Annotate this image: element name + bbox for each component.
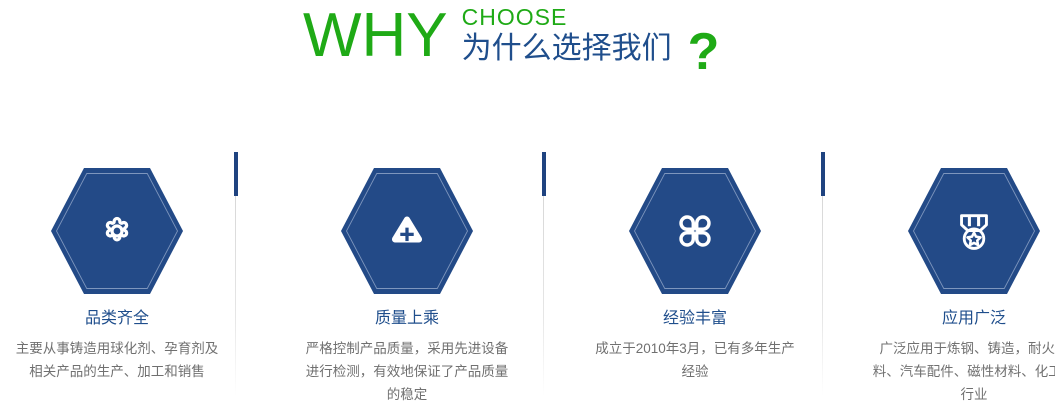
- feature-columns: 品类齐全 主要从事铸造用球化剂、孕育剂及相关产品的生产、加工和销售 质量上乘 严…: [0, 150, 1055, 416]
- feature-column-1: 品类齐全 主要从事铸造用球化剂、孕育剂及相关产品的生产、加工和销售: [0, 150, 234, 416]
- feature-title: 应用广泛: [857, 308, 1055, 330]
- hexagon-badge-1: [51, 168, 183, 294]
- divider-cap: [542, 152, 546, 196]
- heading-choose: CHOOSE: [462, 4, 672, 30]
- feature-description: 主要从事铸造用球化剂、孕育剂及相关产品的生产、加工和销售: [0, 337, 234, 383]
- heading-why: WHY: [303, 2, 448, 70]
- heading-text-stack: CHOOSE 为什么选择我们: [462, 4, 672, 67]
- clover-icon: [672, 208, 718, 254]
- heading-chinese-title: 为什么选择我们: [462, 31, 672, 67]
- feature-description: 广泛应用于炼钢、铸造，耐火材料、汽车配件、磁性材料、化工等行业: [857, 337, 1055, 406]
- heading-question-mark: ?: [688, 24, 720, 80]
- feature-title: 品类齐全: [0, 308, 234, 330]
- divider-cap: [821, 152, 825, 196]
- feature-description: 成立于2010年3月，已有多年生产经验: [578, 337, 812, 383]
- divider-tail: [822, 196, 823, 396]
- feature-column-3: 经验丰富 成立于2010年3月，已有多年生产经验: [578, 150, 812, 416]
- section-heading: WHY CHOOSE 为什么选择我们 ?: [0, 0, 1055, 96]
- feature-column-4: 应用广泛 广泛应用于炼钢、铸造，耐火材料、汽车配件、磁性材料、化工等行业: [857, 150, 1055, 416]
- feature-description: 严格控制产品质量，采用先进设备进行检测，有效地保证了产品质量的稳定: [290, 337, 524, 406]
- gear-icon: [94, 208, 140, 254]
- divider-tail: [235, 196, 236, 396]
- feature-text-4: 应用广泛 广泛应用于炼钢、铸造，耐火材料、汽车配件、磁性材料、化工等行业: [857, 308, 1055, 406]
- divider-tail: [543, 196, 544, 396]
- hexagon-badge-2: [341, 168, 473, 294]
- divider-cap: [234, 152, 238, 196]
- feature-title: 质量上乘: [290, 308, 524, 330]
- feature-text-2: 质量上乘 严格控制产品质量，采用先进设备进行检测，有效地保证了产品质量的稳定: [290, 308, 524, 406]
- hexagon-badge-3: [629, 168, 761, 294]
- medal-icon: [951, 208, 997, 254]
- column-divider-1: [234, 152, 238, 414]
- feature-column-2: 质量上乘 严格控制产品质量，采用先进设备进行检测，有效地保证了产品质量的稳定: [290, 150, 524, 416]
- heading-inner: WHY CHOOSE 为什么选择我们 ?: [303, 0, 719, 80]
- column-divider-3: [821, 152, 825, 414]
- triangle-plus-icon: [384, 208, 430, 254]
- hexagon-badge-4: [908, 168, 1040, 294]
- feature-text-1: 品类齐全 主要从事铸造用球化剂、孕育剂及相关产品的生产、加工和销售: [0, 308, 234, 383]
- feature-title: 经验丰富: [578, 308, 812, 330]
- feature-text-3: 经验丰富 成立于2010年3月，已有多年生产经验: [578, 308, 812, 383]
- column-divider-2: [542, 152, 546, 414]
